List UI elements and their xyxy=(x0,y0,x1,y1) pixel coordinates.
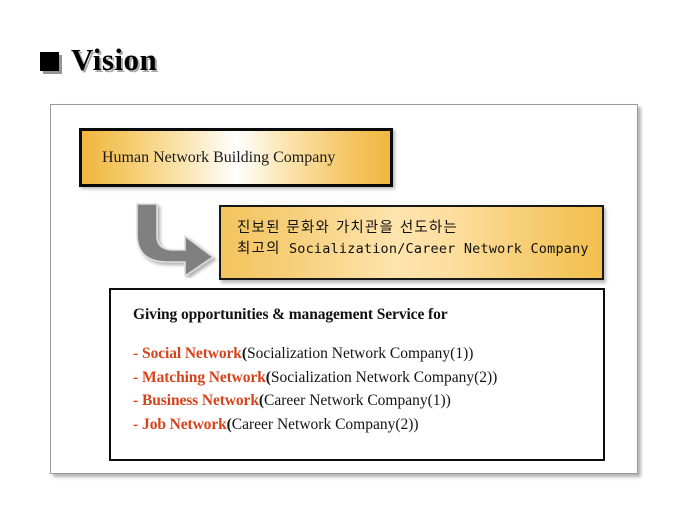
list-item: - Business Network(Career Network Compan… xyxy=(133,389,603,413)
tagline-line-2-english: Socialization/Career Network Company xyxy=(289,241,589,257)
list-item-dash: - xyxy=(133,392,138,409)
list-item-name: Business Network xyxy=(142,392,259,409)
list-item-name: Job Network xyxy=(142,416,227,433)
curved-arrow-icon xyxy=(129,200,221,278)
list-item: - Job Network(Career Network Company(2)) xyxy=(133,413,603,437)
page-title: Vision xyxy=(40,44,157,75)
services-heading: Giving opportunities & management Servic… xyxy=(133,306,603,324)
list-item-name: Social Network xyxy=(142,345,242,362)
list-item-dash: - xyxy=(133,345,138,362)
list-item-desc: Socialization Network Company(1)) xyxy=(247,345,473,362)
tagline-line-2-korean: 최고의 xyxy=(237,241,281,257)
list-item-desc: Socialization Network Company(2)) xyxy=(271,369,497,386)
list-item-desc: Career Network Company(1)) xyxy=(264,392,451,409)
list-item: - Social Network(Socialization Network C… xyxy=(133,342,603,366)
headline-box: Human Network Building Company xyxy=(79,128,393,187)
tagline-line-1: 진보된 문화와 가치관을 선도하는 xyxy=(237,218,602,239)
services-list: - Social Network(Socialization Network C… xyxy=(133,342,603,436)
list-item-dash: - xyxy=(133,369,138,386)
list-item-dash: - xyxy=(133,416,138,433)
list-item-name: Matching Network xyxy=(142,369,266,386)
headline-box-label: Human Network Building Company xyxy=(82,149,335,167)
diagram-frame: Human Network Building Company 진보된 문화와 가… xyxy=(50,104,638,474)
list-item: - Matching Network(Socialization Network… xyxy=(133,366,603,390)
square-bullet-icon xyxy=(40,52,59,71)
services-box: Giving opportunities & management Servic… xyxy=(109,288,605,461)
list-item-desc: Career Network Company(2)) xyxy=(232,416,419,433)
tagline-box: 진보된 문화와 가치관을 선도하는 최고의 Socialization/Care… xyxy=(219,205,604,280)
tagline-line-2: 최고의 Socialization/Career Network Company xyxy=(237,239,602,260)
page-title-text: Vision xyxy=(71,44,157,75)
